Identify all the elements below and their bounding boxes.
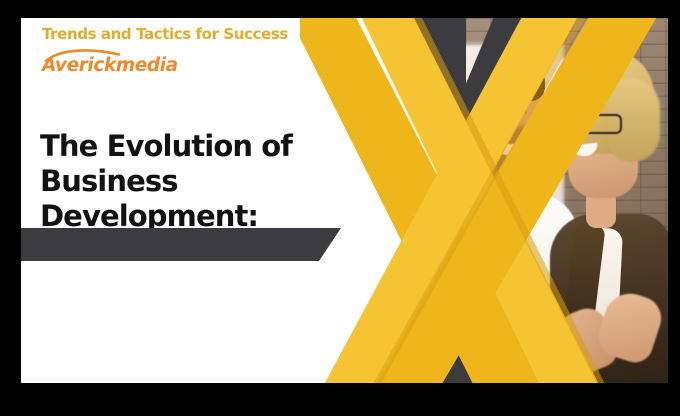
banner-card: Averickmedia The Evolution of Business D… [21,18,668,383]
chevron-x-graphic [300,18,668,383]
screenshot-canvas: Averickmedia The Evolution of Business D… [0,0,680,416]
page-title: The Evolution of Business Development: [40,129,340,234]
banner-text-column: Averickmedia The Evolution of Business D… [21,18,351,383]
headline-line-2: Business [40,164,340,199]
banner-artwork [300,18,668,383]
brand-logo-text: Averickmedia [42,55,178,76]
subtitle-ribbon [21,228,341,261]
headline-line-1: The Evolution of [40,129,340,164]
brand-logo[interactable]: Averickmedia [42,49,192,79]
